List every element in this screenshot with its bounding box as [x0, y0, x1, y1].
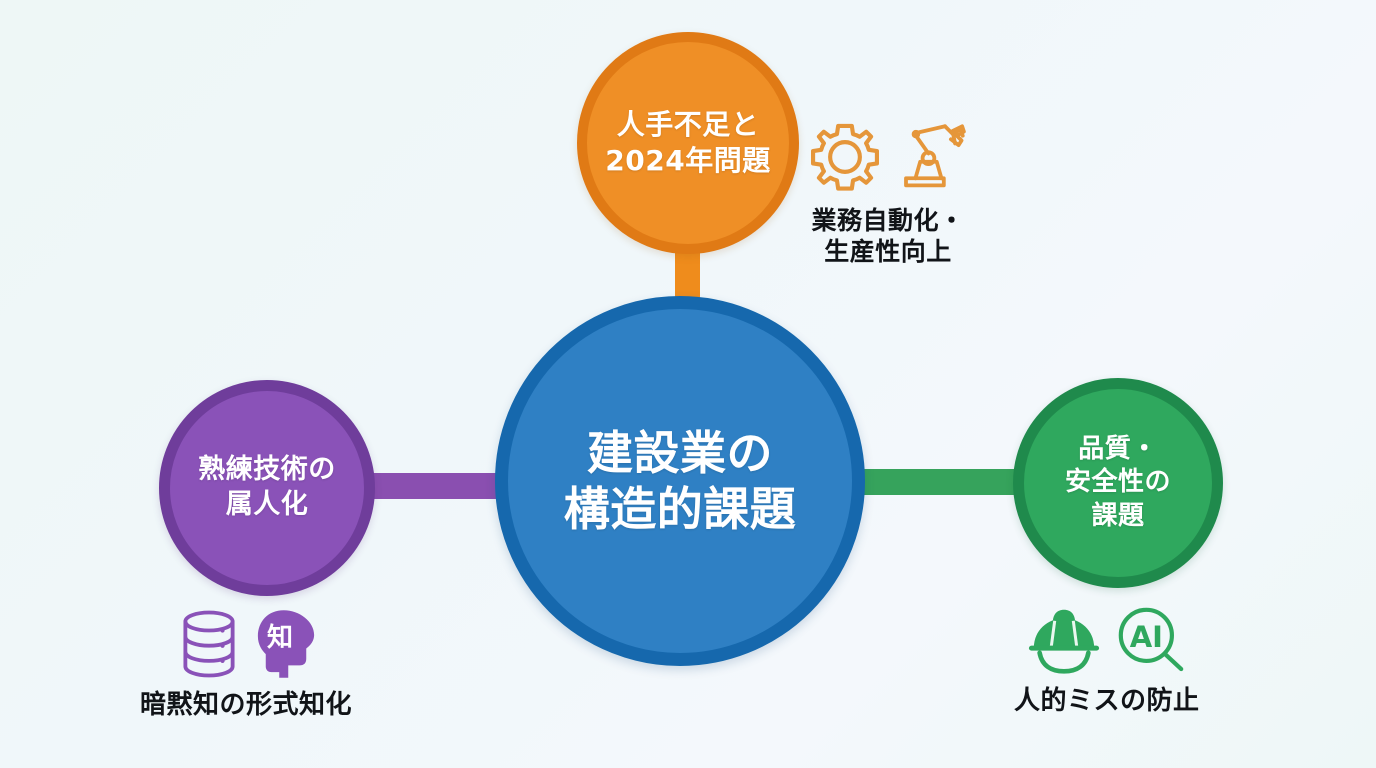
tacit-icon-row: 知: [174, 608, 318, 684]
node-labor-shortage[interactable]: 人手不足と 2024年問題: [577, 32, 799, 254]
human-error-caption: 人的ミスの防止: [1014, 686, 1200, 718]
head-knowledge-glyph: 知: [267, 617, 293, 654]
node-quality-safety-label: 品質・ 安全性の 課題: [1065, 433, 1171, 533]
database-icon: [174, 608, 244, 684]
satellite-automation: 業務自動化・ 生産性向上: [806, 118, 970, 267]
node-center-label: 建設業の 構造的課題: [564, 425, 797, 537]
node-labor-shortage-label: 人手不足と 2024年問題: [605, 107, 770, 179]
node-center-structural-issues[interactable]: 建設業の 構造的課題: [495, 296, 865, 666]
automation-icon-row: [806, 118, 970, 200]
ai-magnifier-icon: AI: [1113, 604, 1189, 680]
satellite-tacit-knowledge: 知 暗黙知の形式知化: [140, 608, 352, 722]
node-skill-dependency[interactable]: 熟練技術の 属人化: [159, 380, 375, 596]
head-knowledge-icon: 知: [254, 608, 318, 684]
automation-caption: 業務自動化・ 生産性向上: [811, 206, 964, 267]
robot-arm-icon: [894, 118, 970, 200]
hard-hat-icon: [1025, 604, 1103, 680]
connector-right: [855, 469, 1025, 495]
diagram-canvas: 人手不足と 2024年問題 熟練技術の 属人化 品質・ 安全性の 課題 建設業の…: [0, 0, 1376, 768]
svg-text:AI: AI: [1129, 620, 1162, 654]
node-skill-dependency-label: 熟練技術の 属人化: [198, 453, 336, 522]
satellite-human-error: AI 人的ミスの防止: [1014, 604, 1200, 718]
connector-left: [355, 473, 510, 499]
safety-icon-row: AI: [1025, 604, 1189, 680]
tacit-knowledge-caption: 暗黙知の形式知化: [140, 690, 352, 722]
node-quality-safety[interactable]: 品質・ 安全性の 課題: [1013, 378, 1223, 588]
gear-icon: [806, 118, 884, 200]
